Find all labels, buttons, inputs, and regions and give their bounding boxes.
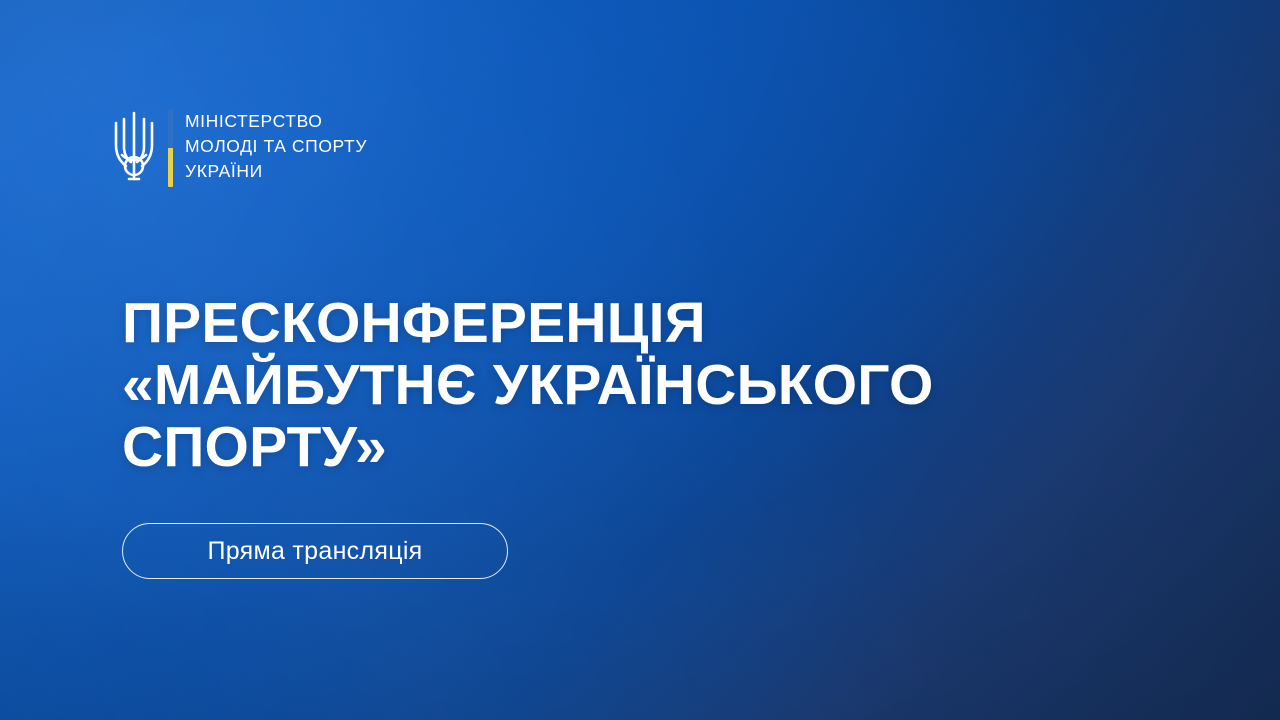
logo-line-1: МІНІСТЕРСТВО xyxy=(185,109,367,134)
headline-line-3: СПОРТУ» xyxy=(122,416,1122,478)
presentation-slide: МІНІСТЕРСТВО МОЛОДІ ТА СПОРТУ УКРАЇНИ ПР… xyxy=(0,0,1280,720)
live-stream-badge: Пряма трансляція xyxy=(122,523,508,579)
logo-line-3: УКРАЇНИ xyxy=(185,159,367,184)
logo-line-2: МОЛОДІ ТА СПОРТУ xyxy=(185,134,367,159)
page-title: ПРЕСКОНФЕРЕНЦІЯ «МАЙБУТНЄ УКРАЇНСЬКОГО С… xyxy=(122,292,1122,478)
ukraine-flag-divider-bar xyxy=(168,109,173,187)
ukraine-trident-emblem-icon xyxy=(110,105,158,187)
headline-line-1: ПРЕСКОНФЕРЕНЦІЯ xyxy=(122,292,1122,354)
headline-line-2: «МАЙБУТНЄ УКРАЇНСЬКОГО xyxy=(122,354,1122,416)
ministry-logo: МІНІСТЕРСТВО МОЛОДІ ТА СПОРТУ УКРАЇНИ xyxy=(110,105,367,187)
live-stream-badge-label: Пряма трансляція xyxy=(207,537,422,566)
ministry-logo-text: МІНІСТЕРСТВО МОЛОДІ ТА СПОРТУ УКРАЇНИ xyxy=(185,105,367,184)
